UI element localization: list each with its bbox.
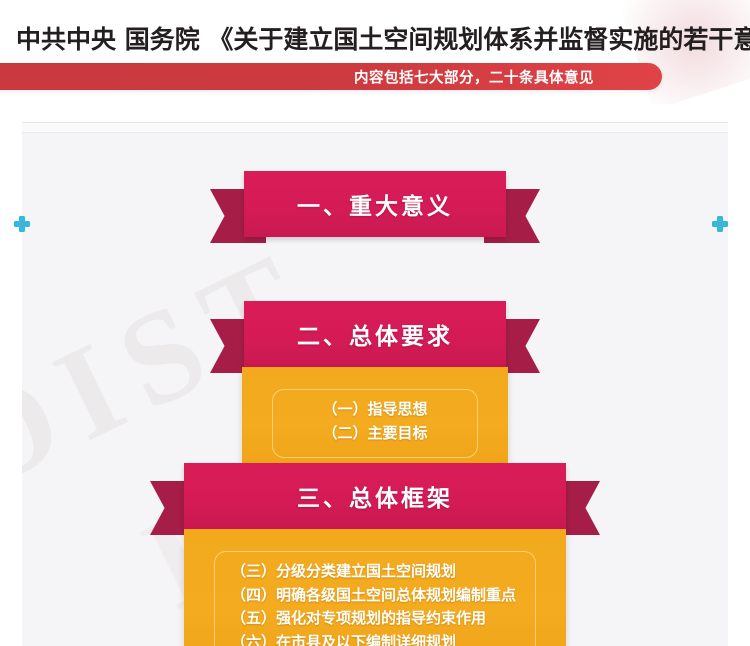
- section-2-ribbon: 二、总体要求: [210, 301, 540, 373]
- cross-marker-right-icon: [712, 216, 728, 232]
- subtitle-text: 内容包括七大部分，二十条具体意见: [354, 66, 594, 87]
- section-1-heading: 一、重大意义: [297, 187, 453, 221]
- list-item: （五）强化对专项规划的指导约束作用: [231, 607, 519, 631]
- section-3-item-box: （三）分级分类建立国土空间规划 （四）明确各级国土空间总体规划编制重点 （五）强…: [184, 529, 566, 646]
- section-3: 三、总体框架 （三）分级分类建立国土空间规划 （四）明确各级国土空间总体规划编制…: [22, 463, 728, 646]
- section-1-ribbon: 一、重大意义: [210, 171, 540, 243]
- page-header: 中共中央 国务院 《关于建立国土空间规划体系并监督实施的若干意见》 内容包括七大…: [0, 0, 750, 104]
- list-item: （二）主要目标: [289, 422, 461, 446]
- list-item: （一）指导思想: [289, 398, 461, 422]
- list-item: （三）分级分类建立国土空间规划: [231, 560, 519, 584]
- section-2-ribbon-body: 二、总体要求: [244, 301, 506, 367]
- page-title: 中共中央 国务院 《关于建立国土空间规划体系并监督实施的若干意见》: [16, 20, 750, 56]
- section-3-ribbon-body: 三、总体框架: [184, 463, 566, 529]
- list-item: （四）明确各级国土空间总体规划编制重点: [231, 584, 519, 608]
- section-2: 二、总体要求 （一）指导思想 （二）主要目标: [22, 301, 728, 484]
- section-1-ribbon-body: 一、重大意义: [244, 171, 506, 237]
- content-panel: DIST PIS 一、重大意义 二、总体要求: [22, 122, 728, 646]
- section-2-item-list: （一）指导思想 （二）主要目标: [272, 389, 478, 458]
- section-2-heading: 二、总体要求: [297, 317, 453, 351]
- content-stage: DIST PIS 一、重大意义 二、总体要求: [0, 104, 750, 646]
- section-1: 一、重大意义: [22, 171, 728, 243]
- list-item: （六）在市县及以下编制详细规划: [231, 631, 519, 646]
- cross-marker-left-icon: [14, 216, 30, 232]
- subtitle-banner: 内容包括七大部分，二十条具体意见: [0, 63, 662, 90]
- section-3-box-wrap: （三）分级分类建立国土空间规划 （四）明确各级国土空间总体规划编制重点 （五）强…: [184, 529, 566, 646]
- section-3-ribbon: 三、总体框架: [150, 463, 600, 535]
- section-3-item-list: （三）分级分类建立国土空间规划 （四）明确各级国土空间总体规划编制重点 （五）强…: [214, 551, 536, 646]
- panel-top-rule: [22, 123, 728, 133]
- section-3-heading: 三、总体框架: [297, 479, 453, 513]
